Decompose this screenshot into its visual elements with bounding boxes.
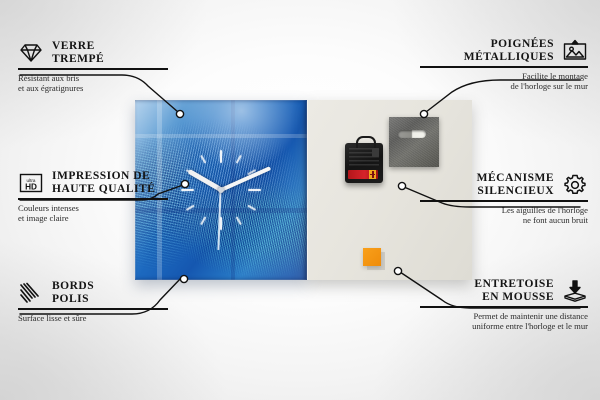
polished-edges-icon	[18, 281, 44, 305]
callout-title: VERRE TREMPÉ	[52, 40, 104, 65]
callout-impression-haute-qualite: ultra HD IMPRESSION DE HAUTE QUALITÉ Cou…	[18, 170, 168, 224]
callout-bords-polis: BORDS POLIS Surface lisse et sûre	[18, 280, 168, 323]
callout-mecanisme-silencieux: MÉCANISME SILENCIEUX Les aiguilles de l'…	[420, 172, 588, 226]
callout-description: Surface lisse et sûre	[18, 313, 168, 323]
callout-description: Couleurs intenses et image claire	[18, 203, 168, 224]
connector-dot-mecanisme	[398, 182, 405, 189]
callout-title: IMPRESSION DE HAUTE QUALITÉ	[52, 170, 155, 195]
callout-title: MÉCANISME SILENCIEUX	[477, 172, 554, 197]
callout-poignees-metalliques: POIGNÉES MÉTALLIQUES Facilite le montage…	[420, 38, 588, 92]
diamond-icon	[18, 41, 44, 65]
foam-spacer-icon	[562, 279, 588, 303]
connector-dot-verre	[176, 110, 183, 117]
callout-description: Permet de maintenir une distance uniform…	[420, 311, 588, 332]
gear-icon	[562, 173, 588, 197]
callout-rule	[420, 66, 588, 68]
callout-rule	[420, 200, 588, 202]
callout-rule	[18, 68, 168, 70]
connector-dot-bords	[180, 275, 187, 282]
picture-hanger-icon	[562, 39, 588, 63]
callout-rule	[18, 308, 168, 310]
connector-dot-entretoise	[394, 267, 401, 274]
callout-title: BORDS POLIS	[52, 280, 94, 305]
callout-description: Les aiguilles de l'horloge ne font aucun…	[420, 205, 588, 226]
svg-text:HD: HD	[25, 182, 37, 191]
callout-rule	[18, 198, 168, 200]
callout-entretoise-en-mousse: ENTRETOISE EN MOUSSE Permet de maintenir…	[420, 278, 588, 332]
callout-verre-trempe: VERRE TREMPÉ Résistant aux bris et aux é…	[18, 40, 168, 94]
infographic-canvas: VERRE TREMPÉ Résistant aux bris et aux é…	[0, 0, 600, 400]
callout-title: ENTRETOISE EN MOUSSE	[474, 278, 554, 303]
callout-rule	[420, 306, 588, 308]
callout-description: Résistant aux bris et aux égratignures	[18, 73, 168, 94]
callout-title: POIGNÉES MÉTALLIQUES	[464, 38, 554, 63]
callout-description: Facilite le montage de l'horloge sur le …	[420, 71, 588, 92]
connector-dot-poignees	[420, 110, 427, 117]
ultra-hd-icon: ultra HD	[18, 171, 44, 195]
connector-dot-impression	[181, 180, 188, 187]
